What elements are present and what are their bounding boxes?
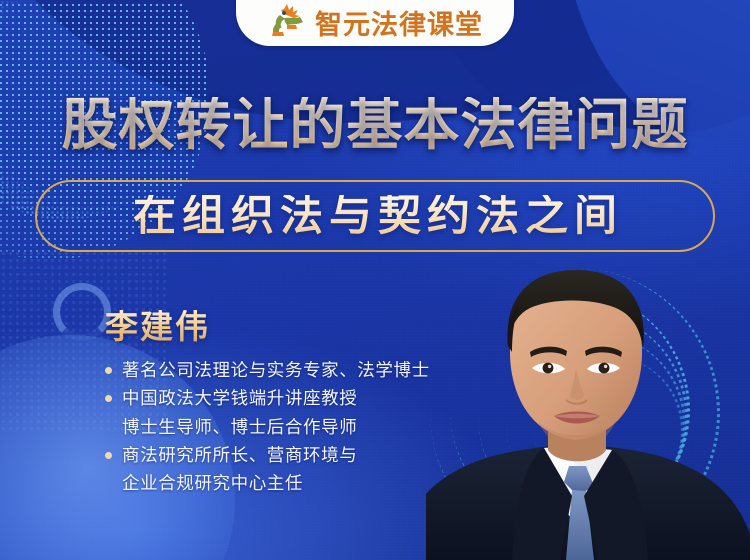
decorative-ring-outline <box>53 283 111 341</box>
subtitle-frame: 在组织法与契约法之间 <box>35 180 715 252</box>
speaker-credentials-list: 著名公司法理论与实务专家、法学博士 中国政法大学钱端升讲座教授 博士生导师、博士… <box>105 356 475 498</box>
list-item: 博士生导师、博士后合作导师 <box>105 413 475 441</box>
brand-name: 智元法律课堂 <box>315 12 483 39</box>
speaker-name: 李建伟 <box>105 310 475 343</box>
subtitle: 在组织法与契约法之间 <box>127 195 623 238</box>
brand-logo-badge[interactable]: 智元法律课堂 <box>236 0 514 46</box>
list-item: 企业合规研究中心主任 <box>105 469 475 497</box>
list-item: 中国政法大学钱端升讲座教授 <box>105 384 475 412</box>
main-title: 股权转让的基本法律问题 <box>0 97 750 153</box>
poster-canvas: 智元法律课堂 股权转让的基本法律问题 在组织法与契约法之间 李建伟 著名公司法理… <box>0 0 750 560</box>
speaker-portrait-photo <box>426 260 750 560</box>
speaker-info-block: 李建伟 著名公司法理论与实务专家、法学博士 中国政法大学钱端升讲座教授 博士生导… <box>105 310 475 498</box>
running-person-logo-icon <box>267 1 311 39</box>
list-item: 著名公司法理论与实务专家、法学博士 <box>105 356 475 384</box>
list-item: 商法研究所所长、营商环境与 <box>105 441 475 469</box>
